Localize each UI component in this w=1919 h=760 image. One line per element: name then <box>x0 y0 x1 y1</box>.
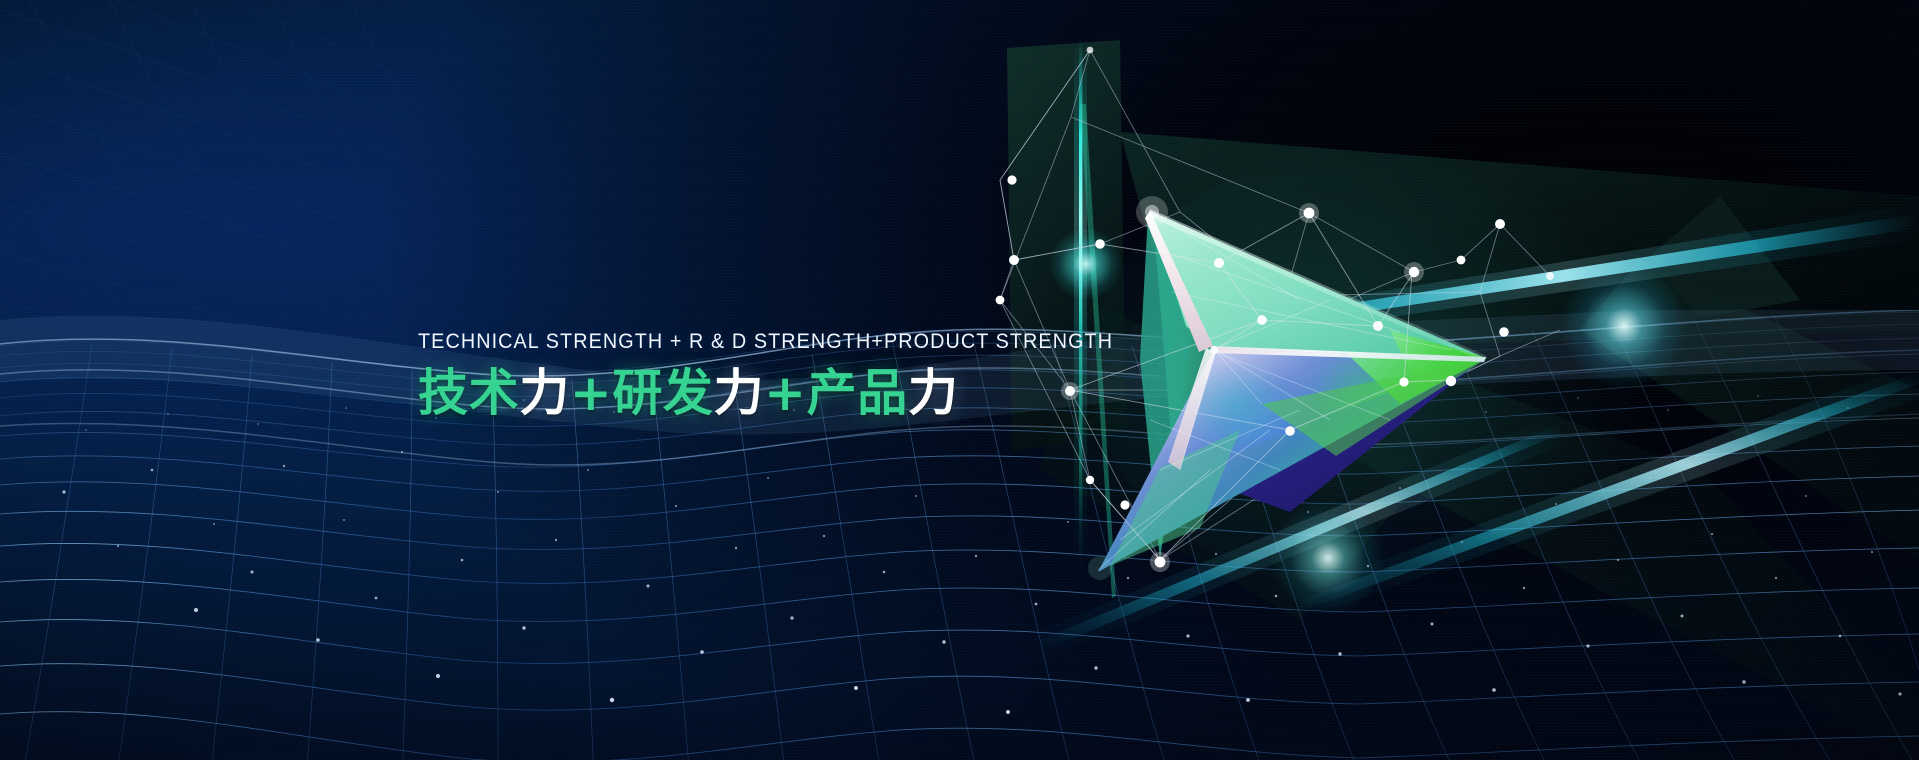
headline-segment-3: + <box>570 364 613 422</box>
hero-banner: TECHNICAL STRENGTH + R & D STRENGTH+PROD… <box>0 0 1919 760</box>
headline-segment-5: 力 <box>714 364 765 422</box>
headline-segment-4: 研发 <box>612 364 713 422</box>
headline-segment-7: 产品 <box>807 364 908 422</box>
headline-block: TECHNICAL STRENGTH + R & D STRENGTH+PROD… <box>418 330 1038 422</box>
headline-segment-8: 力 <box>908 364 959 422</box>
headline-segment-6: + <box>764 364 807 422</box>
headline-segment-1: 技术 <box>418 364 519 422</box>
headline-eyebrow: TECHNICAL STRENGTH + R & D STRENGTH+PROD… <box>418 330 988 354</box>
headline-segment-2: 力 <box>519 364 570 422</box>
headline-main: 技术力+研发力+产品力 <box>418 365 1038 423</box>
